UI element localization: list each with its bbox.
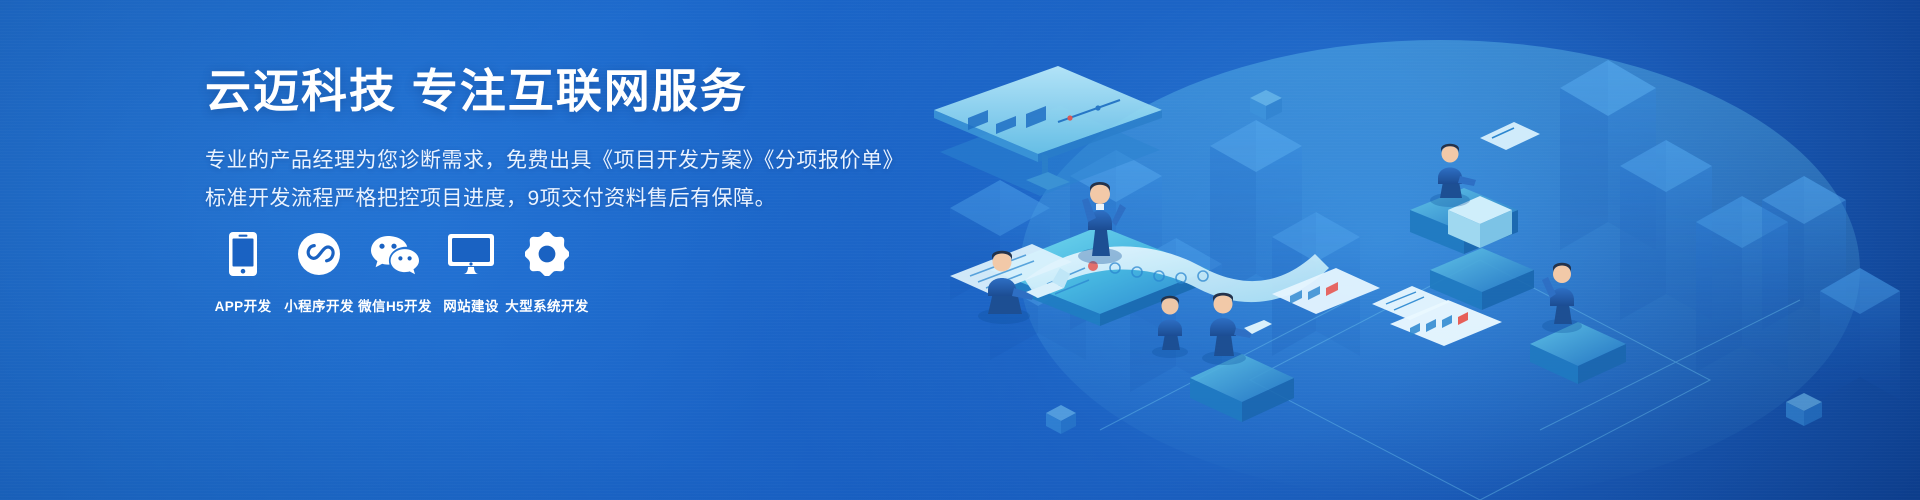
wechat-icon (370, 228, 420, 280)
hero-illustration (920, 0, 1920, 500)
monitor-icon (447, 228, 495, 280)
service-item-mini-program[interactable]: 小程序开发 (281, 228, 357, 315)
service-list: APP开发 小程序开发 微信 (205, 228, 585, 315)
mobile-phone-icon (228, 228, 258, 280)
hero-banner: 云迈科技 专注互联网服务 专业的产品经理为您诊断需求，免费出具《项目开发方案》《… (0, 0, 1920, 500)
service-item-wechat-h5[interactable]: 微信H5开发 (357, 228, 433, 315)
hero-subtitle-line-1: 专业的产品经理为您诊断需求，免费出具《项目开发方案》《分项报价单》 (205, 144, 965, 178)
service-item-large-system[interactable]: 大型系统开发 (509, 228, 585, 315)
service-label: APP开发 (215, 295, 272, 315)
service-label: 小程序开发 (284, 295, 354, 315)
mini-program-icon (297, 228, 341, 280)
service-label: 网站建设 (443, 295, 499, 315)
service-label: 微信H5开发 (358, 295, 432, 315)
service-label: 大型系统开发 (505, 295, 588, 315)
hero-copy: 云迈科技 专注互联网服务 专业的产品经理为您诊断需求，免费出具《项目开发方案》《… (205, 66, 965, 216)
service-item-app[interactable]: APP开发 (205, 228, 281, 315)
gear-icon (525, 228, 569, 280)
hero-subtitle-line-2: 标准开发流程严格把控项目进度，9项交付资料售后有保障。 (205, 182, 965, 216)
service-item-website[interactable]: 网站建设 (433, 228, 509, 315)
page-title: 云迈科技 专注互联网服务 (205, 66, 965, 118)
